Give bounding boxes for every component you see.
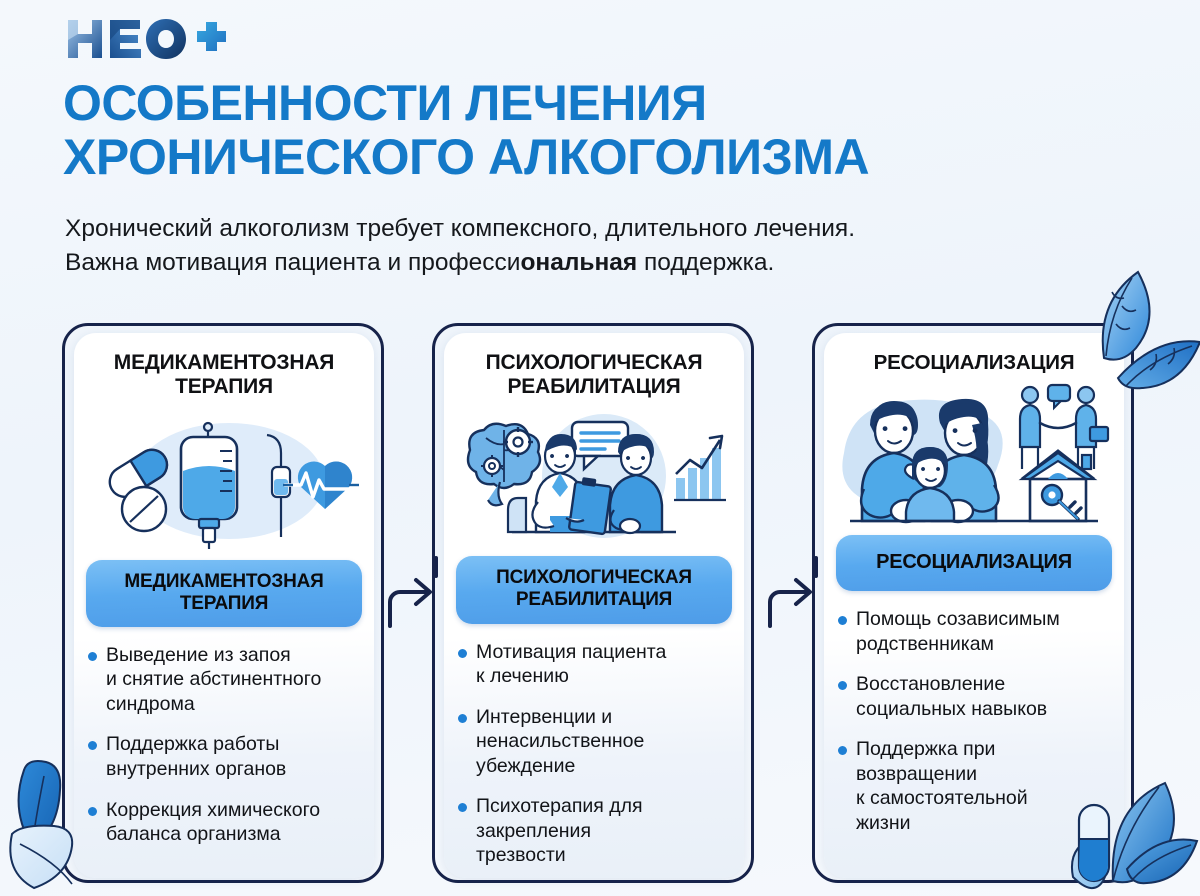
iv-drip-pills-heart-icon [89, 409, 359, 549]
card-psychological-rehabilitation[interactable]: ПСИХОЛОГИЧЕСКАЯ РЕАБИЛИТАЦИЯ [444, 333, 744, 878]
bullet-dot-icon [458, 649, 467, 658]
card-3-badge-line-1: РЕСОЦИАЛИЗАЦИЯ [876, 551, 1072, 573]
list-item: Поддержка работывнутренних органов [88, 732, 358, 781]
page-title: ОСОБЕННОСТИ ЛЕЧЕНИЯ ХРОНИЧЕСКОГО АЛКОГОЛ… [63, 76, 1133, 184]
arrow-card1-to-card2 [384, 556, 444, 630]
card-1-badge[interactable]: МЕДИКАМЕНТОЗНАЯ ТЕРАПИЯ [86, 560, 362, 627]
bullet-dot-icon [88, 807, 97, 816]
card-1-title-line-2: ТЕРАПИЯ [175, 375, 273, 398]
card-medication-therapy[interactable]: МЕДИКАМЕНТОЗНАЯ ТЕРАПИЯ [74, 333, 374, 878]
list-item: Выведение из запояи снятие абстинентного… [88, 643, 358, 717]
list-item: Мотивация пациентак лечению [458, 640, 728, 689]
subtitle-line-2-bold: ональная [520, 249, 637, 276]
card-1-badge-line-1: МЕДИКАМЕНТОЗНАЯ [124, 571, 323, 592]
list-item: Поддержка привозвращениик самостоятельно… [838, 737, 1108, 835]
family-handshake-house-key-icon [834, 379, 1114, 529]
bullet-dot-icon [88, 652, 97, 661]
card-3-bullet-2: Восстановлениесоциальных навыков [856, 672, 1047, 721]
card-1-bullet-1: Выведение из запояи снятие абстинентного… [106, 643, 321, 717]
card-1-bullet-3: Коррекция химическогобаланса организма [106, 798, 320, 847]
card-1-title-line-1: МЕДИКАМЕНТОЗНАЯ [114, 351, 334, 374]
infographic-page: ОСОБЕННОСТИ ЛЕЧЕНИЯ ХРОНИЧЕСКОГО АЛКОГОЛ… [0, 0, 1200, 896]
list-item: Помощь созависимымродственникам [838, 607, 1108, 656]
list-item: Коррекция химическогобаланса организма [88, 798, 358, 847]
bullet-dot-icon [838, 746, 847, 755]
subtitle-line-2-b: поддержка. [637, 249, 774, 276]
subtitle-line-2-a: Важна мотивация пациента и професси [65, 249, 520, 276]
card-2-title: ПСИХОЛОГИЧЕСКАЯ РЕАБИЛИТАЦИЯ [444, 333, 744, 400]
card-3-badge[interactable]: РЕСОЦИАЛИЗАЦИЯ [836, 535, 1112, 591]
bullet-dot-icon [838, 681, 847, 690]
bullet-dot-icon [458, 714, 467, 723]
card-3-bullet-1: Помощь созависимымродственникам [856, 607, 1060, 656]
card-2-bullet-2: Интервенции иненасильственноеубеждение [476, 705, 644, 779]
card-1-badge-line-2: ТЕРАПИЯ [180, 593, 268, 614]
card-2-badge-line-2: РЕАБИЛИТАЦИЯ [516, 589, 672, 610]
list-item: Восстановлениесоциальных навыков [838, 672, 1108, 721]
page-subtitle: Хронический алкоголизм требует компексно… [65, 212, 1065, 280]
card-1-artwork [74, 404, 374, 554]
therapy-session-brain-chart-icon [454, 406, 734, 548]
card-1-title: МЕДИКАМЕНТОЗНАЯ ТЕРАПИЯ [74, 333, 374, 400]
card-2-bullet-3: Психотерапия длязакреплениятрезвости [476, 794, 643, 868]
page-title-line-2: ХРОНИЧЕСКОГО АЛКОГОЛИЗМА [63, 130, 1133, 184]
card-2-title-line-1: ПСИХОЛОГИЧЕСКАЯ [486, 351, 703, 374]
arrow-card2-to-card3 [764, 556, 824, 630]
list-item: Психотерапия длязакреплениятрезвости [458, 794, 728, 868]
card-3-bullet-list: Помощь созависимымродственникам Восстано… [824, 591, 1124, 878]
card-resocialization[interactable]: РЕСОЦИАЛИЗАЦИЯ [824, 333, 1124, 878]
bullet-dot-icon [838, 616, 847, 625]
card-3-title-line-1: РЕСОЦИАЛИЗАЦИЯ [874, 351, 1075, 374]
card-2-badge-line-1: ПСИХОЛОГИЧЕСКАЯ [496, 567, 692, 588]
bullet-dot-icon [88, 741, 97, 750]
card-2-title-line-2: РЕАБИЛИТАЦИЯ [508, 375, 681, 398]
card-2-bullet-1: Мотивация пациентак лечению [476, 640, 666, 689]
card-3-title: РЕСОЦИАЛИЗАЦИЯ [824, 333, 1124, 375]
card-2-bullet-list: Мотивация пациентак лечению Интервенции … [444, 624, 744, 879]
bullet-dot-icon [458, 803, 467, 812]
card-1-bullet-list: Выведение из запояи снятие абстинентного… [74, 627, 374, 878]
card-2-badge[interactable]: ПСИХОЛОГИЧЕСКАЯ РЕАБИЛИТАЦИЯ [456, 556, 732, 623]
card-1-bullet-2: Поддержка работывнутренних органов [106, 732, 286, 781]
page-title-line-1: ОСОБЕННОСТИ ЛЕЧЕНИЯ [63, 75, 707, 131]
subtitle-line-1: Хронический алкоголизм требует компексно… [65, 215, 855, 242]
list-item: Интервенции иненасильственноеубеждение [458, 705, 728, 779]
neo-plus-logo [66, 16, 226, 62]
card-3-artwork [824, 379, 1124, 529]
card-3-bullet-3: Поддержка привозвращениик самостоятельно… [856, 737, 1028, 835]
card-2-artwork [444, 404, 744, 551]
